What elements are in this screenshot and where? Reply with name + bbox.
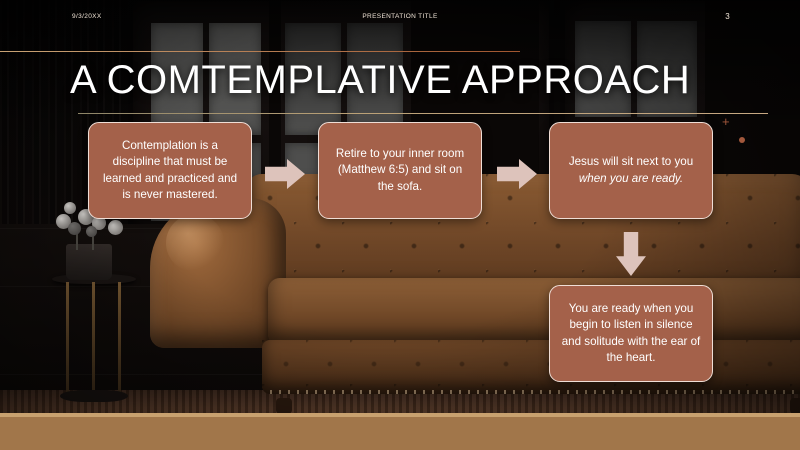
dot-decoration-icon — [739, 137, 745, 143]
process-box-2[interactable]: Retire to your inner room (Matthew 6:5) … — [318, 122, 482, 219]
page-title: A COMTEMPLATIVE APPROACH — [70, 58, 690, 103]
process-box-4[interactable]: You are ready when you begin to listen i… — [549, 285, 713, 382]
process-box-3-emphasis: when you are ready. — [579, 172, 683, 185]
slide: + A COMTEMPLATIVE APPROACH Contemplation… — [0, 0, 800, 450]
footer-bar — [0, 417, 800, 450]
plus-decoration-icon: + — [722, 115, 730, 128]
footer-page-number: 3 — [0, 0, 800, 33]
accent-line-top — [0, 51, 520, 52]
process-box-1[interactable]: Contemplation is a discipline that must … — [88, 122, 252, 219]
accent-line-under-title — [78, 113, 768, 114]
process-box-3[interactable]: Jesus will sit next to you when you are … — [549, 122, 713, 219]
process-box-3-text: Jesus will sit next to you — [569, 155, 693, 168]
